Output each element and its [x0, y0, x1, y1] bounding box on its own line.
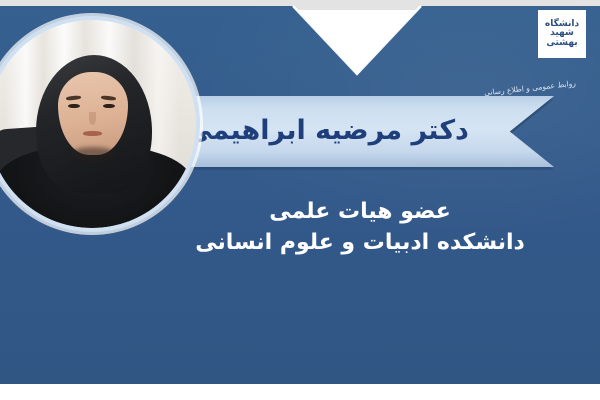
- university-logo-mark-text: دانشگاه شهید بهشتی: [544, 19, 580, 49]
- faculty-name: دکتر مرضیه ابراهیمی: [185, 117, 469, 144]
- photo-mouth: [83, 131, 103, 136]
- subtitle-line-position: عضو هیات علمی: [150, 196, 570, 227]
- name-ribbon: دکتر مرضیه ابراهیمی: [152, 96, 554, 167]
- bottom-edge-band: [0, 384, 600, 400]
- logo-mark-line-3: بهشتی: [545, 39, 579, 48]
- faculty-subtitle: عضو هیات علمی دانشکده ادبیات و علوم انسا…: [150, 196, 570, 258]
- faculty-announcement-card: دکتر مرضیه ابراهیمی عضو هیات علمی دانشکد: [0, 0, 600, 400]
- university-logo-mark: دانشگاه شهید بهشتی: [538, 10, 586, 58]
- subtitle-line-faculty: دانشکده ادبیات و علوم انسانی: [150, 227, 570, 258]
- university-logo: دانشگاه شهید بهشتی روابط عمومی و اطلاع ر…: [482, 6, 594, 90]
- photo-nose: [89, 112, 96, 126]
